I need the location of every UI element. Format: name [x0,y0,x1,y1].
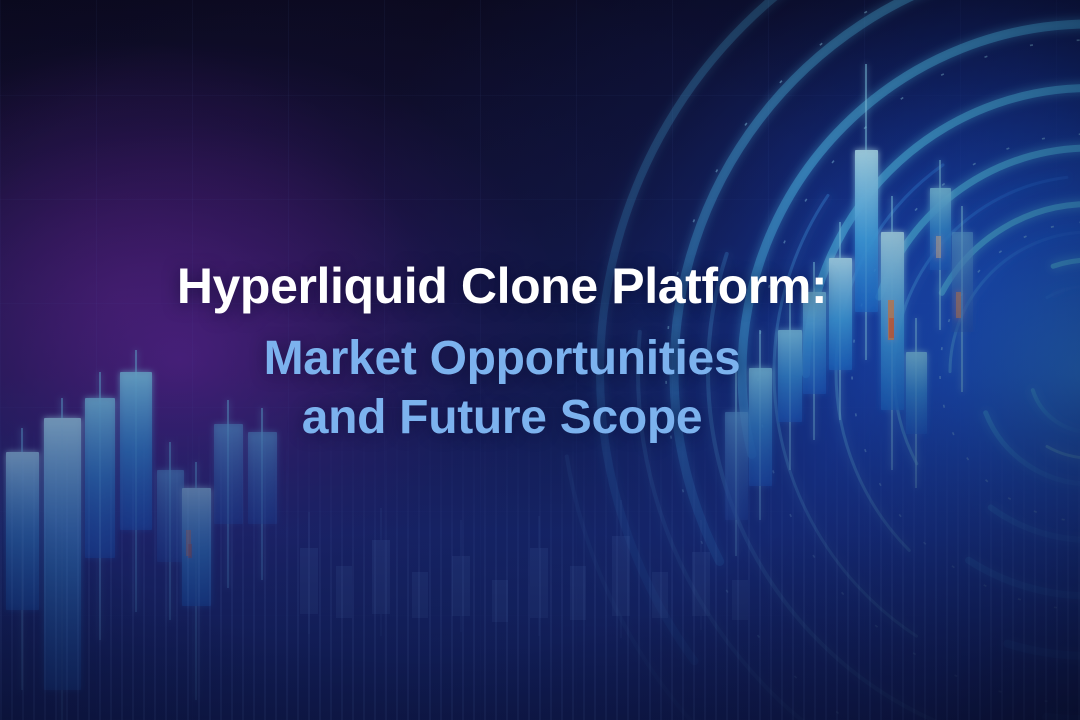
banner: Hyperliquid Clone Platform: Market Oppor… [0,0,1080,720]
title-block: Hyperliquid Clone Platform: Market Oppor… [0,258,1080,447]
page-subtitle-line-1: Market Opportunities [264,332,741,385]
candlestick-chart-ghost [300,500,748,638]
page-subtitle-line-2: and Future Scope [52,389,952,448]
page-title: Hyperliquid Clone Platform: [0,258,1080,314]
page-subtitle: Market Opportunities and Future Scope [0,330,1080,447]
